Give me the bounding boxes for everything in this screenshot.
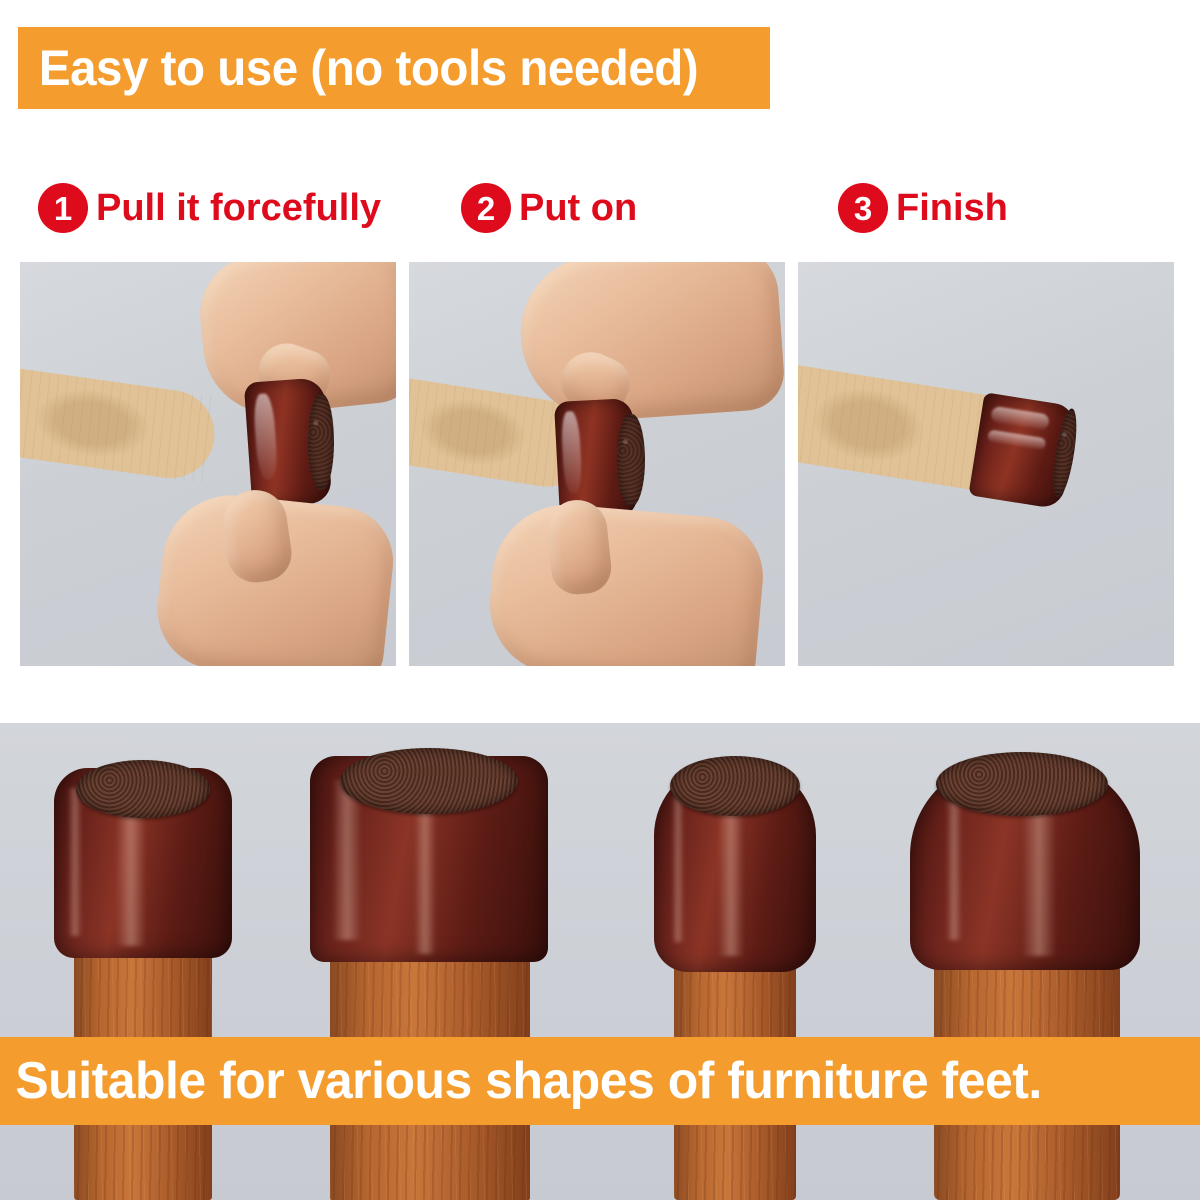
step-3-photo	[798, 262, 1174, 666]
header-banner: Easy to use (no tools needed)	[18, 27, 770, 109]
upper-hand-photo-2	[516, 262, 785, 426]
felt-pad-photo-2	[617, 414, 645, 506]
felt-pad-photo-1	[308, 394, 334, 490]
step-2-photo	[409, 262, 785, 666]
step-3: 3 Finish	[838, 172, 1008, 244]
steps-row: 1 Pull it forcefully 2 Put on 3 Finish	[0, 172, 1200, 244]
step-2-label: Put on	[519, 189, 637, 227]
step-3-label: Finish	[896, 189, 1008, 227]
furniture-leg-2-felt-pad	[340, 748, 518, 814]
lower-hand-photo-2	[484, 499, 768, 666]
furniture-leg-4	[900, 730, 1160, 1200]
step-1-number-badge: 1	[38, 183, 88, 233]
furniture-leg-1	[48, 730, 238, 1200]
wooden-leg-photo-3	[798, 365, 994, 491]
furniture-leg-3-cap-highlight-2	[672, 792, 684, 942]
furniture-leg-1-cap-highlight-2	[68, 788, 82, 936]
instruction-photo-row	[0, 262, 1200, 666]
step-2-number-badge: 2	[461, 183, 511, 233]
furniture-leg-2-cap-highlight-2	[332, 780, 362, 940]
furniture-leg-4-felt-pad	[936, 752, 1108, 816]
furniture-leg-3-felt-pad	[670, 756, 800, 816]
step-1-label: Pull it forcefully	[96, 189, 381, 227]
wooden-leg-photo-1	[20, 368, 220, 484]
step-3-number-badge: 3	[838, 183, 888, 233]
footer-banner: Suitable for various shapes of furniture…	[0, 1037, 1200, 1125]
furniture-leg-3	[640, 730, 830, 1200]
step-2: 2 Put on	[461, 172, 637, 244]
furniture-leg-2	[310, 730, 550, 1200]
product-infographic-page: Easy to use (no tools needed) 1 Pull it …	[0, 0, 1200, 1200]
cap-gloss-photo-2	[560, 411, 582, 494]
furniture-leg-1-felt-pad	[76, 760, 210, 818]
cap-gloss2-photo-3	[987, 429, 1046, 450]
footer-banner-text: Suitable for various shapes of furniture…	[0, 1055, 1042, 1107]
step-1-photo	[20, 262, 396, 666]
header-banner-text: Easy to use (no tools needed)	[18, 43, 698, 93]
cap-gloss-photo-1	[253, 393, 279, 480]
step-1: 1 Pull it forcefully	[38, 172, 381, 244]
furniture-feet-showcase	[0, 723, 1200, 1200]
furniture-leg-4-cap-highlight-2	[946, 790, 962, 940]
cap-gloss-photo-3	[990, 406, 1050, 431]
